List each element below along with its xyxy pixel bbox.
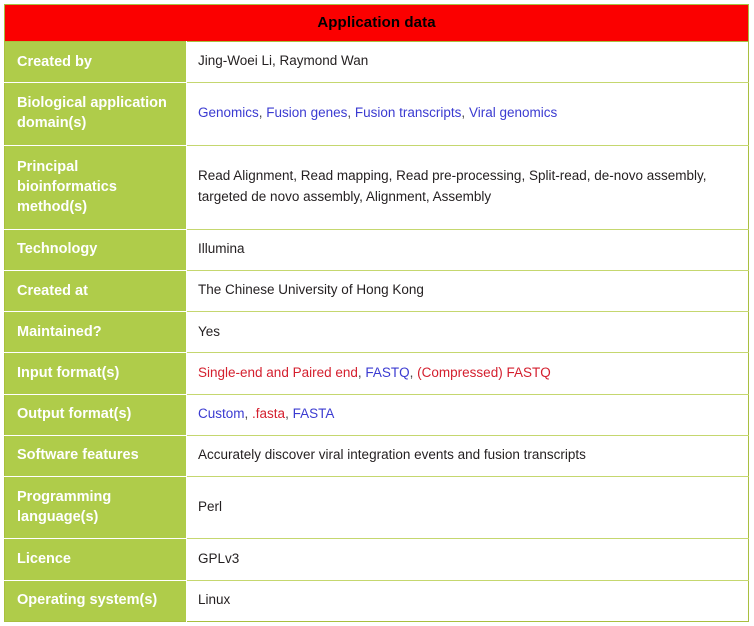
- table-row: TechnologyIllumina: [5, 229, 749, 270]
- row-label: Created by: [5, 42, 187, 83]
- value-text: Jing-Woei Li, Raymond Wan: [198, 53, 368, 68]
- table-title: Application data: [5, 5, 749, 42]
- value-text: Illumina: [198, 241, 245, 256]
- value-link[interactable]: FASTA: [293, 406, 335, 421]
- value-link[interactable]: (Compressed) FASTQ: [417, 365, 551, 380]
- table-body: Created byJing-Woei Li, Raymond WanBiolo…: [5, 42, 749, 622]
- table-row: Created byJing-Woei Li, Raymond Wan: [5, 42, 749, 83]
- row-value: The Chinese University of Hong Kong: [187, 270, 749, 311]
- application-data-table: Application data Created byJing-Woei Li,…: [4, 4, 749, 622]
- table-row: LicenceGPLv3: [5, 539, 749, 580]
- value-text: ,: [461, 105, 469, 120]
- row-value: Perl: [187, 476, 749, 538]
- value-link[interactable]: Viral genomics: [469, 105, 557, 120]
- value-link[interactable]: Fusion genes: [266, 105, 347, 120]
- row-value: Genomics, Fusion genes, Fusion transcrip…: [187, 83, 749, 145]
- table-header-row: Application data: [5, 5, 749, 42]
- row-label: Input format(s): [5, 353, 187, 394]
- row-label: Technology: [5, 229, 187, 270]
- value-text: Read Alignment, Read mapping, Read pre-p…: [198, 168, 707, 203]
- table-row: Biological application domain(s)Genomics…: [5, 83, 749, 145]
- row-label: Maintained?: [5, 312, 187, 353]
- row-label: Programming language(s): [5, 476, 187, 538]
- value-link[interactable]: Single-end and Paired end: [198, 365, 358, 380]
- row-label: Software features: [5, 435, 187, 476]
- value-text: GPLv3: [198, 551, 239, 566]
- row-value: Single-end and Paired end, FASTQ, (Compr…: [187, 353, 749, 394]
- value-text: Yes: [198, 324, 220, 339]
- value-link[interactable]: FASTQ: [365, 365, 409, 380]
- value-link[interactable]: Fusion transcripts: [355, 105, 462, 120]
- row-value: Jing-Woei Li, Raymond Wan: [187, 42, 749, 83]
- value-link[interactable]: Genomics: [198, 105, 259, 120]
- row-value: Illumina: [187, 229, 749, 270]
- row-label: Operating system(s): [5, 580, 187, 621]
- value-text: Perl: [198, 499, 222, 514]
- table-row: Software featuresAccurately discover vir…: [5, 435, 749, 476]
- row-value: Accurately discover viral integration ev…: [187, 435, 749, 476]
- value-text: ,: [285, 406, 293, 421]
- row-value: GPLv3: [187, 539, 749, 580]
- value-text: ,: [347, 105, 355, 120]
- row-value: Linux: [187, 580, 749, 621]
- table-row: Maintained?Yes: [5, 312, 749, 353]
- value-text: The Chinese University of Hong Kong: [198, 282, 424, 297]
- row-label: Created at: [5, 270, 187, 311]
- value-text: Linux: [198, 592, 230, 607]
- table-row: Programming language(s)Perl: [5, 476, 749, 538]
- table-row: Operating system(s)Linux: [5, 580, 749, 621]
- application-data-panel: Application data Created byJing-Woei Li,…: [0, 0, 754, 626]
- value-link[interactable]: .fasta: [252, 406, 285, 421]
- table-row: Principal bioinformatics method(s)Read A…: [5, 145, 749, 229]
- row-label: Licence: [5, 539, 187, 580]
- value-text: Accurately discover viral integration ev…: [198, 447, 586, 462]
- row-label: Principal bioinformatics method(s): [5, 145, 187, 229]
- value-link[interactable]: Custom: [198, 406, 245, 421]
- row-value: Yes: [187, 312, 749, 353]
- table-row: Created atThe Chinese University of Hong…: [5, 270, 749, 311]
- row-label: Biological application domain(s): [5, 83, 187, 145]
- row-value: Read Alignment, Read mapping, Read pre-p…: [187, 145, 749, 229]
- row-value: Custom, .fasta, FASTA: [187, 394, 749, 435]
- row-label: Output format(s): [5, 394, 187, 435]
- table-row: Output format(s)Custom, .fasta, FASTA: [5, 394, 749, 435]
- table-row: Input format(s)Single-end and Paired end…: [5, 353, 749, 394]
- value-text: ,: [245, 406, 253, 421]
